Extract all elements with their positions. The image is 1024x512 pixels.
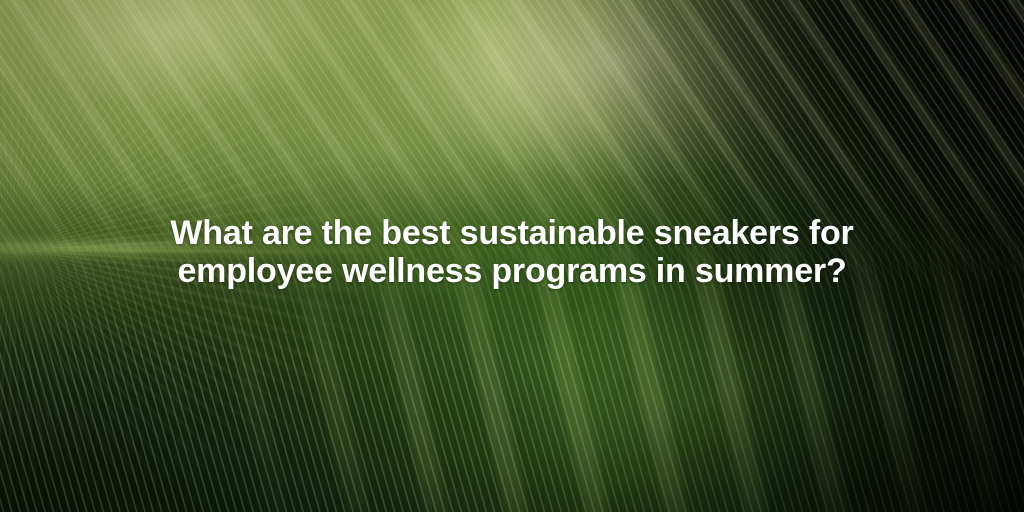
- headline-block: What are the best sustainable sneakers f…: [0, 214, 1024, 290]
- headline-line-1: What are the best sustainable sneakers f…: [0, 214, 1024, 252]
- leaf-headline-banner: What are the best sustainable sneakers f…: [0, 0, 1024, 512]
- headline-line-2: employee wellness programs in summer?: [0, 252, 1024, 290]
